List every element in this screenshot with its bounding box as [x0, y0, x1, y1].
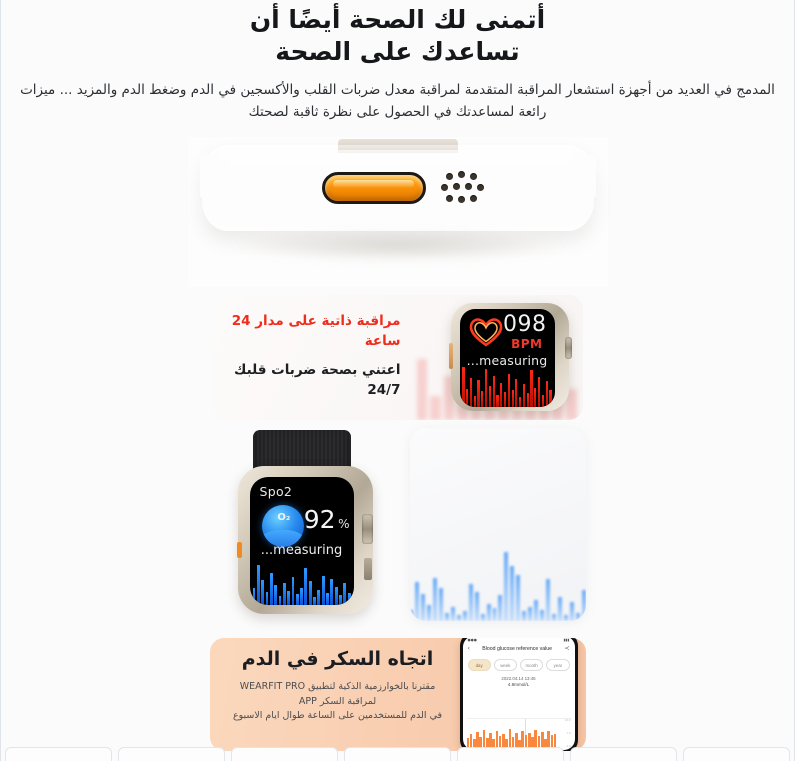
share-icon[interactable]: ≺: [564, 645, 569, 652]
oxygen-droplet-icon: O₂: [262, 505, 304, 547]
heart-rate-card: مراقبة ذاتية على مدار 24 ساعة اعتني بصحة…: [213, 295, 583, 420]
blood-sugar-title: اتجاه السكر في الدم: [224, 648, 452, 671]
thumbnail-item[interactable]: [231, 747, 338, 761]
product-detail-page: أتمنى لك الصحة أيضًا أن تساعدك على الصحة…: [0, 0, 795, 761]
digital-crown: [565, 337, 572, 359]
side-button: [364, 558, 372, 580]
phone-nav-bar: ‹ Blood glucose reference value ≺: [463, 644, 575, 655]
heart-rate-subtitle: اعتني بصحة ضربات قلبك 24/7: [219, 360, 401, 401]
spo2-watch: Spo2 O₂ 92 % measuring...: [238, 466, 373, 614]
phone-mockup: ●●● ▮▮▮ ‹ Blood glucose reference value …: [460, 638, 578, 751]
strap-notch-right: [562, 155, 596, 197]
watch-side-view: [202, 145, 594, 231]
glucose-bars: [467, 728, 557, 748]
blood-sugar-text-block: اتجاه السكر في الدم مقترنا بالخوارزمية ا…: [224, 648, 452, 724]
spo2-watch-image: Spo2 O₂ 92 % measuring...: [212, 430, 402, 626]
heart-rate-watch: 098 BPM measuring...: [451, 303, 569, 411]
side-button: [449, 343, 453, 369]
status-bar-right: ▮▮▮: [564, 638, 570, 642]
page-title: أتمنى لك الصحة أيضًا أن تساعدك على الصحة: [11, 4, 784, 68]
speaker-grille-icon: [442, 171, 490, 205]
y-tick-0: 10.0: [559, 719, 571, 722]
spo2-percent-sign: %: [338, 517, 349, 531]
o2-symbol: O₂: [277, 512, 290, 523]
glucose-chart: 10.0 7.0 4.0: [467, 718, 571, 748]
blood-sugar-body-line-2: لمراقبة السكر APP: [299, 696, 376, 707]
tab-month[interactable]: month: [520, 659, 543, 671]
heart-rate-text-block: مراقبة ذاتية على مدار 24 ساعة اعتني بصحة…: [219, 311, 401, 400]
orange-action-button: [322, 172, 426, 204]
phone-screen: ●●● ▮▮▮ ‹ Blood glucose reference value …: [463, 638, 575, 750]
spo2-bar-chart: [253, 563, 351, 605]
heart-rate-value: 098: [503, 314, 547, 336]
blood-sugar-body-line-1: مقترنا بالخوارزمية الذكية لتطبيق WEARFIT…: [240, 681, 436, 692]
selected-date: 2022.04.14 13:45: [463, 676, 575, 681]
blood-sugar-body: مقترنا بالخوارزمية الذكية لتطبيق WEARFIT…: [224, 680, 452, 724]
page-subtitle: المدمج في العديد من أجهزة استشعار المراق…: [11, 80, 784, 123]
heart-icon: [468, 316, 504, 348]
heart-rate-unit: BPM: [511, 337, 542, 351]
heart-rate-title: مراقبة ذاتية على مدار 24 ساعة: [219, 311, 401, 352]
tab-year[interactable]: year: [546, 659, 569, 671]
chart-y-axis: 10.0 7.0 4.0: [559, 719, 571, 748]
y-tick-1: 7.0: [559, 732, 571, 735]
headline-line-2: تساعدك على الصحة: [11, 36, 784, 68]
page-header: أتمنى لك الصحة أيضًا أن تساعدك على الصحة…: [1, 0, 794, 123]
chevron-left-icon[interactable]: ‹: [468, 645, 470, 652]
thumbnail-item[interactable]: [570, 747, 677, 761]
heart-rate-bar-chart: [463, 365, 552, 407]
time-range-tabs: day week month year: [463, 655, 575, 673]
blood-sugar-card: اتجاه السكر في الدم مقترنا بالخوارزمية ا…: [210, 638, 586, 751]
thumbnail-item[interactable]: [344, 747, 451, 761]
spo2-label: Spo2: [260, 484, 293, 499]
tab-day[interactable]: day: [468, 659, 491, 671]
spo2-status: measuring...: [250, 543, 354, 558]
watch-screen: 098 BPM measuring...: [460, 309, 555, 407]
status-bar-left: ●●●: [468, 638, 477, 642]
blood-oxygen-chart-card: [410, 428, 586, 621]
phone-nav-title: Blood glucose reference value: [482, 646, 552, 652]
thumbnail-item[interactable]: [457, 747, 564, 761]
orange-action-button: [237, 542, 242, 558]
thumbnail-strip: [1, 747, 794, 761]
blood-sugar-body-line-3: في الدم للمستخدمين على الساعة طوال ايام …: [233, 710, 442, 721]
hero-watch-side-image: [188, 137, 608, 287]
thumbnail-item[interactable]: [5, 747, 112, 761]
blue-bar-chart-decoration: [410, 549, 586, 621]
digital-crown: [362, 514, 373, 544]
glucose-reading: 4.8mmol/L: [463, 682, 575, 687]
thumbnail-item[interactable]: [118, 747, 225, 761]
headline-line-1: أتمنى لك الصحة أيضًا أن: [250, 5, 545, 34]
thumbnail-item[interactable]: [683, 747, 790, 761]
tab-week[interactable]: week: [494, 659, 517, 671]
image-gallery: مراقبة ذاتية على مدار 24 ساعة اعتني بصحة…: [1, 137, 794, 751]
watch-screen: Spo2 O₂ 92 % measuring...: [250, 477, 354, 605]
case-sheen: [217, 150, 578, 172]
spo2-value: 92: [304, 507, 336, 532]
hero-shadow: [228, 229, 568, 263]
spo2-row: Spo2 O₂ 92 % measuring...: [210, 428, 586, 628]
